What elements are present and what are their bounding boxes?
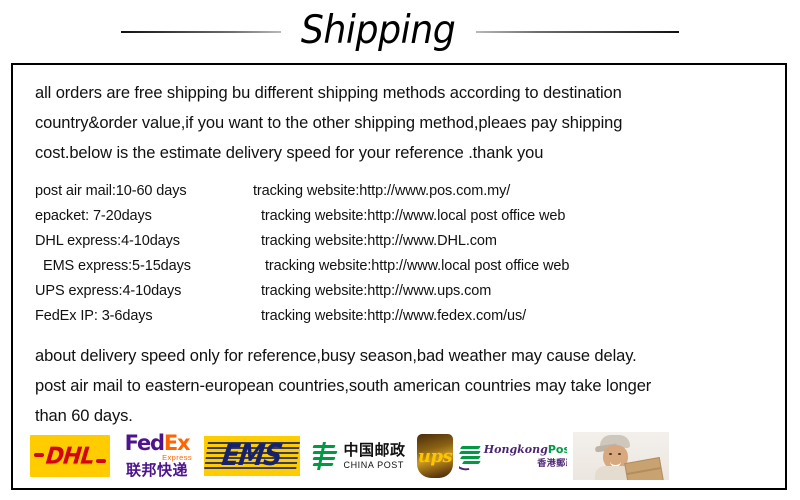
method-tracking: tracking website:http://www.fedex.com/us… <box>253 304 526 329</box>
method-name: epacket: 7-20days <box>35 204 253 229</box>
page-title: Shipping <box>288 11 469 50</box>
table-row: FedEx IP: 3-6days tracking website:http:… <box>35 304 785 329</box>
shipping-details-box: all orders are free shipping bu differen… <box>11 63 787 490</box>
intro-line: country&order value,if you want to the o… <box>35 108 767 138</box>
method-name: EMS express:5-15days <box>35 254 261 279</box>
china-post-logo-icon: 中国邮政 CHINA POST <box>306 434 411 478</box>
table-row: UPS express:4-10days tracking website:ht… <box>35 279 785 304</box>
method-tracking: tracking website:http://www.local post o… <box>261 254 569 279</box>
method-tracking: tracking website:http://www.pos.com.my/ <box>253 179 510 204</box>
intro-line: all orders are free shipping bu differen… <box>35 78 767 108</box>
shipping-methods-table: post air mail:10-60 days tracking websit… <box>13 179 785 329</box>
shipping-info-banner: Shipping all orders are free shipping bu… <box>0 0 800 500</box>
title-rule-left-icon <box>121 31 281 33</box>
method-name: DHL express:4-10days <box>35 229 253 254</box>
title-rule-right-icon <box>476 31 679 33</box>
method-name: FedEx IP: 3-6days <box>35 304 253 329</box>
china-post-english-text: CHINA POST <box>343 461 404 470</box>
outro-line: post air mail to eastern-european countr… <box>35 371 767 401</box>
china-post-wordmark: 中国邮政 CHINA POST <box>343 443 405 470</box>
table-row: EMS express:5-15days tracking website:ht… <box>35 254 785 279</box>
carrier-logo-strip: DHL FedEx Express 联邦快递 EMS <box>30 430 669 482</box>
intro-paragraph: all orders are free shipping bu differen… <box>13 78 785 168</box>
hongkong-post-english-text: HongkongPost <box>484 444 567 456</box>
fedex-chinese-text: 联邦快递 <box>126 462 188 479</box>
method-tracking: tracking website:http://www.local post o… <box>253 204 565 229</box>
dhl-logo-icon: DHL <box>30 435 110 477</box>
dhl-logo-text: DHL <box>45 443 95 469</box>
outro-paragraph: about delivery speed only for reference,… <box>13 341 785 431</box>
fedex-fed-text: Fed <box>125 433 164 455</box>
method-tracking: tracking website:http://www.ups.com <box>253 279 491 304</box>
outro-line: about delivery speed only for reference,… <box>35 341 767 371</box>
table-row: DHL express:4-10days tracking website:ht… <box>35 229 785 254</box>
ups-logo-icon: ups <box>417 434 453 478</box>
intro-line: cost.below is the estimate delivery spee… <box>35 138 767 168</box>
fedex-logo-icon: FedEx Express 联邦快递 <box>116 433 198 479</box>
fedex-wordmark: FedEx <box>125 433 190 453</box>
dhl-dash-icon <box>96 459 106 463</box>
table-row: epacket: 7-20days tracking website:http:… <box>35 204 785 229</box>
fedex-ex-text: Ex <box>164 433 190 455</box>
hongkong-post-chinese-text: 香港郵政 <box>537 460 567 469</box>
ups-logo-text: ups <box>418 446 452 467</box>
dhl-dash-icon <box>34 453 44 457</box>
hongkong-post-wordmark: HongkongPost 香港郵政 <box>484 444 567 469</box>
method-name: UPS express:4-10days <box>35 279 253 304</box>
header: Shipping <box>0 0 800 60</box>
table-row: post air mail:10-60 days tracking websit… <box>35 179 785 204</box>
method-tracking: tracking website:http://www.DHL.com <box>253 229 497 254</box>
outro-line: than 60 days. <box>35 401 767 431</box>
ems-logo-text: EMS <box>220 439 284 474</box>
hongkong-post-logo-icon: HongkongPost 香港郵政 <box>459 433 567 479</box>
china-post-emblem-icon <box>311 441 339 471</box>
china-post-chinese-text: 中国邮政 <box>343 443 405 458</box>
method-name: post air mail:10-60 days <box>35 179 253 204</box>
courier-photo <box>573 432 669 480</box>
ems-logo-icon: EMS <box>204 436 300 476</box>
hongkong-post-emblem-icon <box>459 441 481 471</box>
